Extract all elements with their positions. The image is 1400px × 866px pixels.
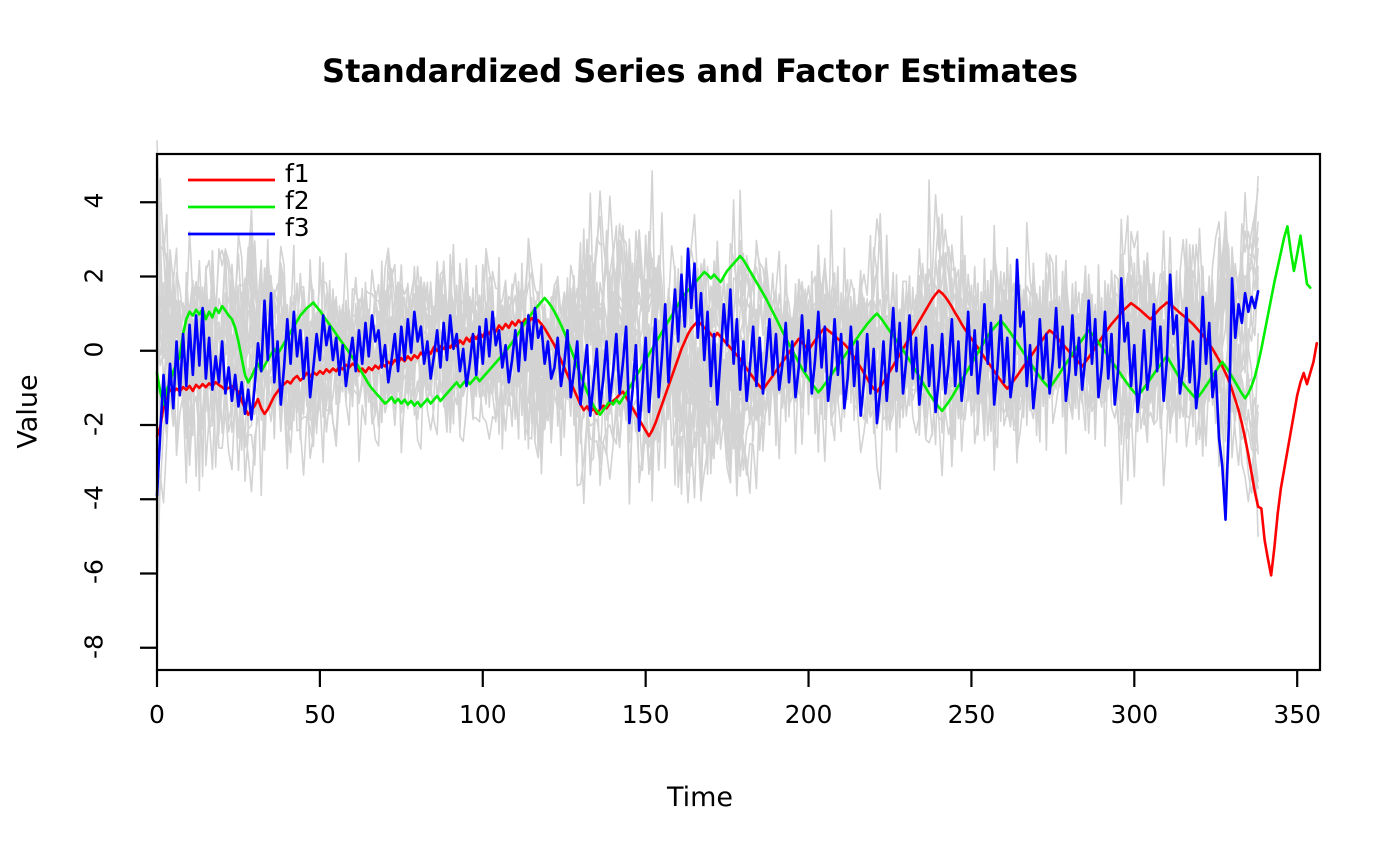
y-tick-label: 0 [80,314,109,384]
page-title: Standardized Series and Factor Estimates [0,52,1400,90]
x-tick-label: 0 [149,700,165,729]
y-tick-label: 4 [80,166,109,236]
chart-figure: Standardized Series and Factor Estimates… [0,0,1400,866]
x-tick-label: 200 [785,700,833,729]
x-tick-label: 50 [304,700,336,729]
legend-swatch-group [188,180,275,234]
x-tick-label: 150 [622,700,670,729]
y-tick-label: -4 [80,463,109,533]
x-tick-label: 300 [1110,700,1158,729]
x-tick-label: 100 [459,700,507,729]
plot-canvas [0,0,1400,866]
y-tick-label: 2 [80,240,109,310]
legend-label-f3: f3 [285,213,310,242]
x-tick-label: 350 [1273,700,1321,729]
x-tick-label: 250 [948,700,996,729]
x-axis-label: Time [0,782,1400,813]
y-tick-label: -2 [80,388,109,458]
y-axis-label: Value [13,332,44,492]
legend-label-f2: f2 [285,186,310,215]
legend-label-f1: f1 [285,159,310,188]
y-tick-label: -8 [80,611,109,681]
y-tick-label: -6 [80,537,109,607]
